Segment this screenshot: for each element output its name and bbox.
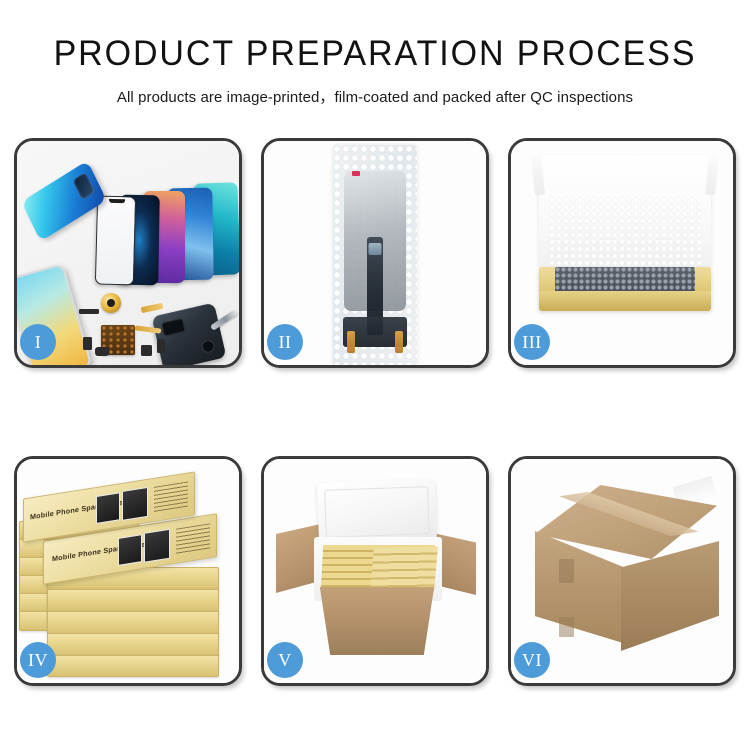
step-5-numeral-badge: V [267, 642, 303, 678]
chip-part-1 [79, 309, 99, 314]
process-step-5[interactable]: V [261, 456, 489, 686]
red-qc-sticker [352, 171, 360, 176]
page-title: PRODUCT PREPARATION PROCESS [11, 0, 739, 71]
box-spec-lines-top [154, 481, 188, 512]
gold-boxes-inside-2 [370, 546, 438, 591]
box-spec-lines-mid [176, 523, 210, 554]
bubble-wrap-bag [333, 145, 417, 365]
box-product-image-mid-2 [144, 529, 170, 563]
lcd-driver-chip [369, 243, 382, 255]
chip-part-3 [141, 345, 152, 356]
phone-cyan-back [21, 160, 107, 241]
process-step-6[interactable]: VI [508, 456, 736, 686]
carton-seam-upper [559, 559, 574, 583]
process-step-2[interactable]: II [261, 138, 489, 368]
step-1-numeral-badge: I [20, 324, 56, 360]
process-step-4[interactable]: Mobile Phone Spare Parts Mobile Phone Sp… [14, 456, 242, 686]
header: PRODUCT PREPARATION PROCESS All products… [0, 0, 750, 107]
packed-contents [555, 267, 695, 293]
speaker-part [95, 347, 109, 356]
box-product-image-mid-1 [118, 534, 142, 566]
gold-coil-part [101, 293, 121, 313]
process-step-1[interactable]: I [14, 138, 242, 368]
step-6-numeral-badge: VI [514, 642, 550, 678]
step-3-numeral-badge: III [514, 324, 550, 360]
chip-part-4 [157, 339, 165, 353]
carton-body [312, 587, 442, 655]
stack-box-r5 [47, 655, 219, 677]
page-subtitle: All products are image-printed，film-coat… [6, 71, 745, 107]
process-step-3[interactable]: III [508, 138, 736, 368]
flex-cable-1 [141, 303, 164, 313]
box-product-image-top-1 [96, 492, 120, 524]
chip-part-2 [83, 337, 92, 350]
gold-contact-left [347, 331, 355, 353]
box-product-image-top-2 [122, 487, 148, 521]
step-4-numeral-badge: IV [20, 642, 56, 678]
stack-box-r4 [47, 633, 219, 657]
foam-box-lid [317, 479, 437, 545]
phone-notch [108, 199, 124, 203]
process-step-grid: I II [14, 138, 736, 686]
white-foam-sheet [549, 197, 701, 271]
product-preparation-infographic: PRODUCT PREPARATION PROCESS All products… [0, 0, 750, 750]
carton-seam-lower [559, 617, 574, 637]
phone-glass-screen [95, 196, 136, 286]
gold-contact-right [395, 331, 403, 353]
stack-box-r2 [47, 589, 219, 613]
step-2-numeral-badge: II [267, 324, 303, 360]
phone-back-housing [152, 303, 227, 365]
stack-box-r3 [47, 611, 219, 635]
gold-box-front-edge [539, 291, 711, 311]
